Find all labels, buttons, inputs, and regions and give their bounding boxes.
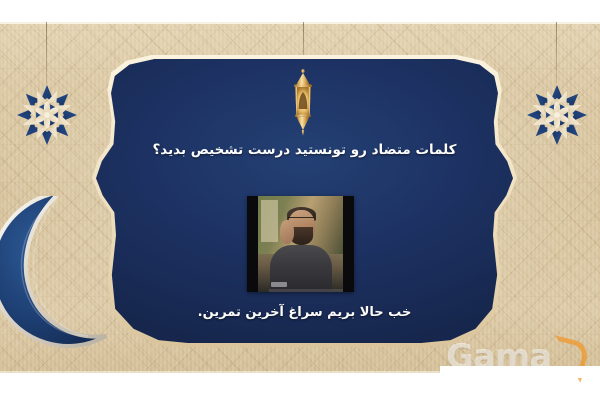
rosette-right-cord	[556, 22, 557, 84]
lantern-icon	[287, 68, 319, 138]
crescent-moon-icon	[0, 196, 142, 348]
rosette-star-icon-right	[524, 82, 590, 148]
slide-canvas: کلمات متضاد رو تونستید درست تشخیص بدید؟ …	[0, 0, 600, 400]
video-background-door	[261, 200, 278, 242]
channel-logo-icon	[271, 282, 287, 287]
band-top-edge	[0, 22, 600, 24]
rosette-star-icon-left	[14, 82, 80, 148]
video-progress-bar[interactable]	[269, 289, 343, 292]
video-person-hand	[280, 220, 294, 244]
question-text: کلمات متضاد رو تونستید درست تشخیص بدید؟	[92, 142, 517, 158]
rosette-left-cord	[46, 22, 47, 84]
answer-text: خب حالا بریم سراغ آخرین تمرین.	[92, 305, 517, 320]
video-frame	[258, 196, 343, 292]
watermark-bottom-mask	[440, 366, 600, 378]
video-thumbnail[interactable]	[247, 196, 354, 292]
